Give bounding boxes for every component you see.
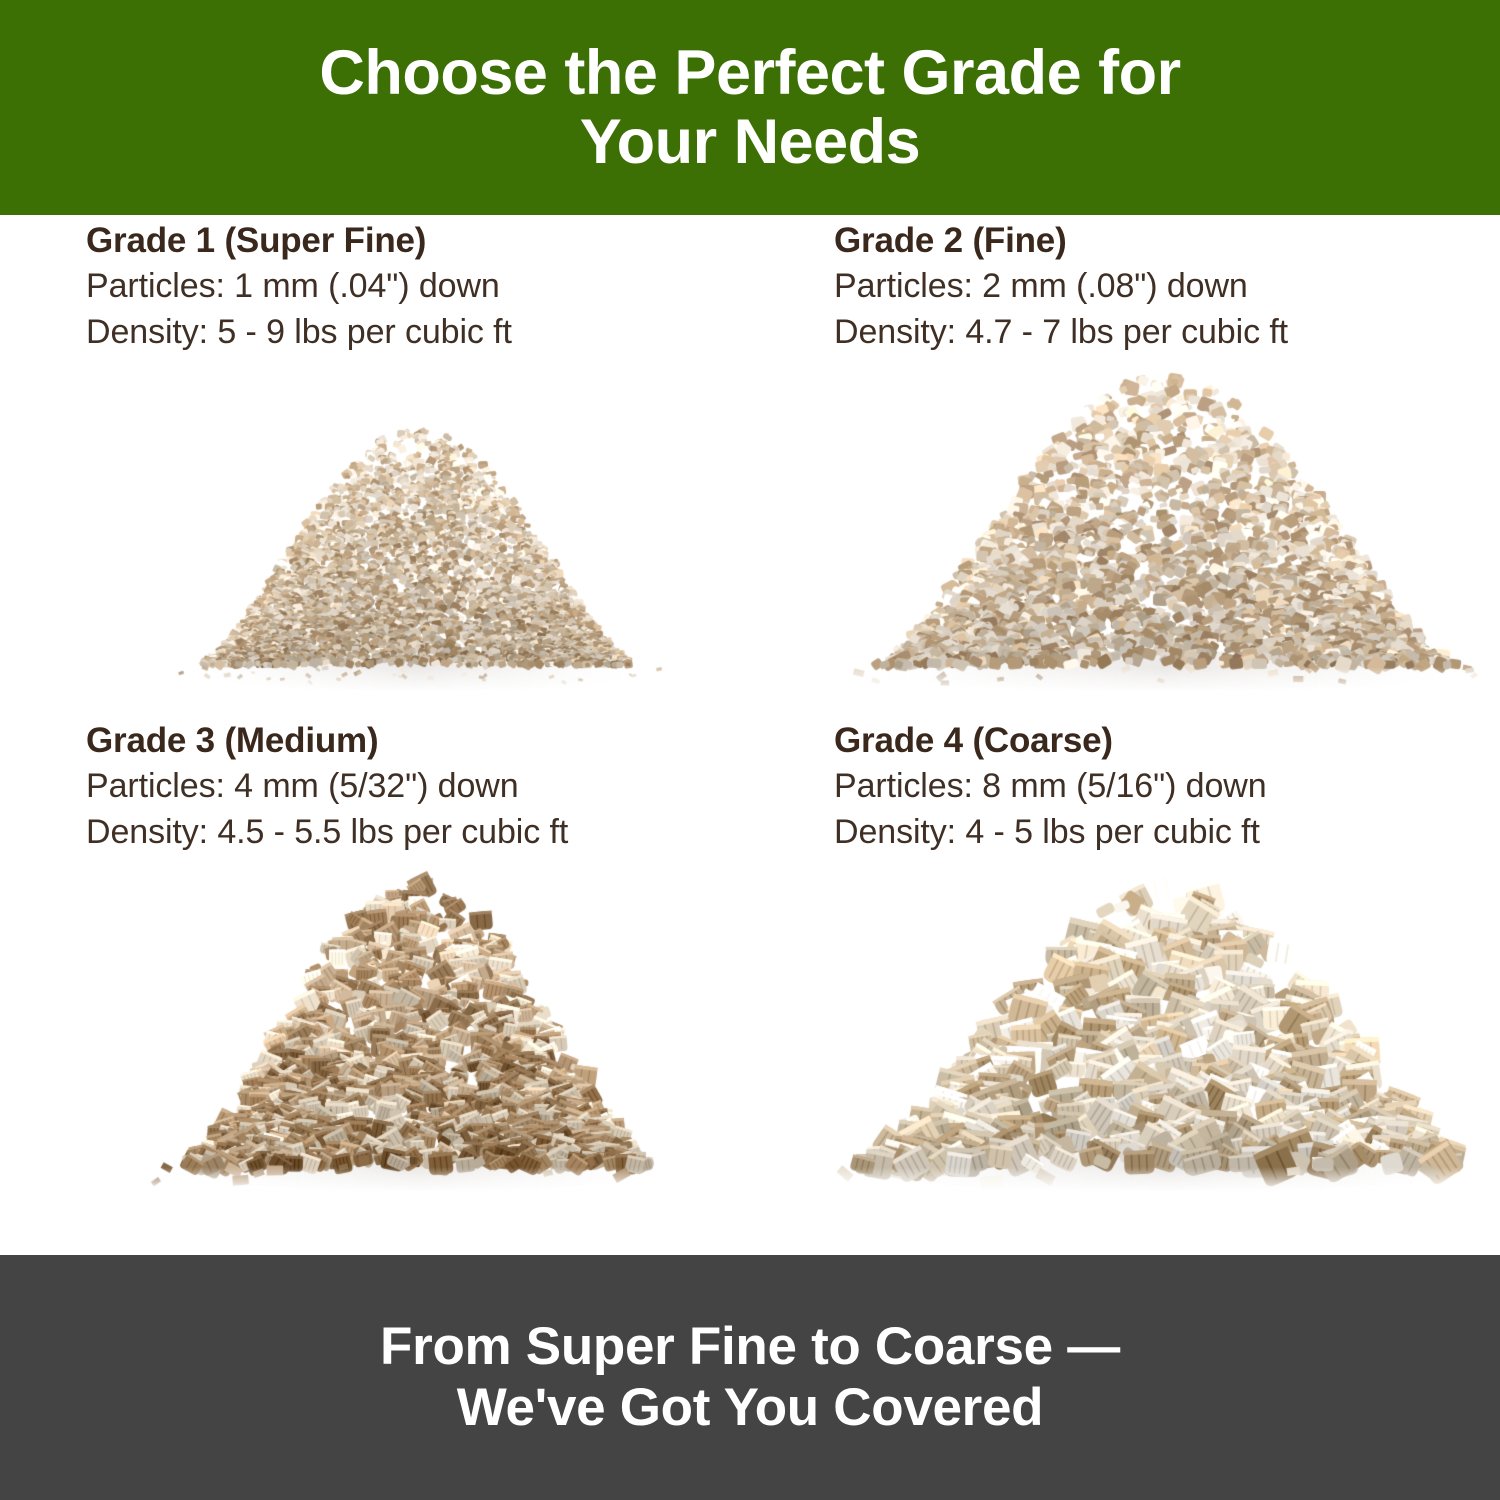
grade-2-density: Density: 4.7 - 7 lbs per cubic ft bbox=[834, 309, 1498, 355]
grade-4-image bbox=[834, 861, 1498, 1191]
super-fine-vermiculite-pile-icon bbox=[86, 361, 750, 691]
grade-card-2: Grade 2 (Fine) Particles: 2 mm (.08") do… bbox=[834, 220, 1498, 725]
grade-2-heading: Grade 2 (Fine) bbox=[834, 220, 1498, 263]
grade-1-text-block: Grade 1 (Super Fine) Particles: 1 mm (.0… bbox=[86, 220, 750, 355]
footer-banner: From Super Fine to Coarse — We've Got Yo… bbox=[0, 1255, 1500, 1500]
grade-2-text-block: Grade 2 (Fine) Particles: 2 mm (.08") do… bbox=[834, 220, 1498, 355]
grade-4-particles: Particles: 8 mm (5/16") down bbox=[834, 763, 1498, 809]
grade-card-3: Grade 3 (Medium) Particles: 4 mm (5/32")… bbox=[86, 720, 750, 1225]
grade-4-text-block: Grade 4 (Coarse) Particles: 8 mm (5/16")… bbox=[834, 720, 1498, 855]
grade-3-image bbox=[86, 861, 750, 1191]
grade-3-heading: Grade 3 (Medium) bbox=[86, 720, 750, 763]
grade-2-image bbox=[834, 361, 1498, 691]
grade-4-heading: Grade 4 (Coarse) bbox=[834, 720, 1498, 763]
header-banner: Choose the Perfect Grade for Your Needs bbox=[0, 0, 1500, 215]
coarse-vermiculite-pile-icon bbox=[834, 861, 1498, 1191]
grade-3-text-block: Grade 3 (Medium) Particles: 4 mm (5/32")… bbox=[86, 720, 750, 855]
grade-1-heading: Grade 1 (Super Fine) bbox=[86, 220, 750, 263]
grade-3-density: Density: 4.5 - 5.5 lbs per cubic ft bbox=[86, 809, 750, 855]
grade-card-4: Grade 4 (Coarse) Particles: 8 mm (5/16")… bbox=[834, 720, 1498, 1225]
grade-3-particles: Particles: 4 mm (5/32") down bbox=[86, 763, 750, 809]
fine-vermiculite-pile-icon bbox=[834, 361, 1498, 691]
grade-4-density: Density: 4 - 5 lbs per cubic ft bbox=[834, 809, 1498, 855]
grade-1-density: Density: 5 - 9 lbs per cubic ft bbox=[86, 309, 750, 355]
grade-card-1: Grade 1 (Super Fine) Particles: 1 mm (.0… bbox=[86, 220, 750, 725]
page-title: Choose the Perfect Grade for Your Needs bbox=[319, 39, 1180, 175]
grade-2-particles: Particles: 2 mm (.08") down bbox=[834, 263, 1498, 309]
medium-vermiculite-pile-icon bbox=[86, 861, 750, 1191]
footer-tagline: From Super Fine to Coarse — We've Got Yo… bbox=[380, 1317, 1120, 1438]
grade-1-image bbox=[86, 361, 750, 691]
grade-1-particles: Particles: 1 mm (.04") down bbox=[86, 263, 750, 309]
grades-grid: Grade 1 (Super Fine) Particles: 1 mm (.0… bbox=[0, 215, 1500, 1255]
